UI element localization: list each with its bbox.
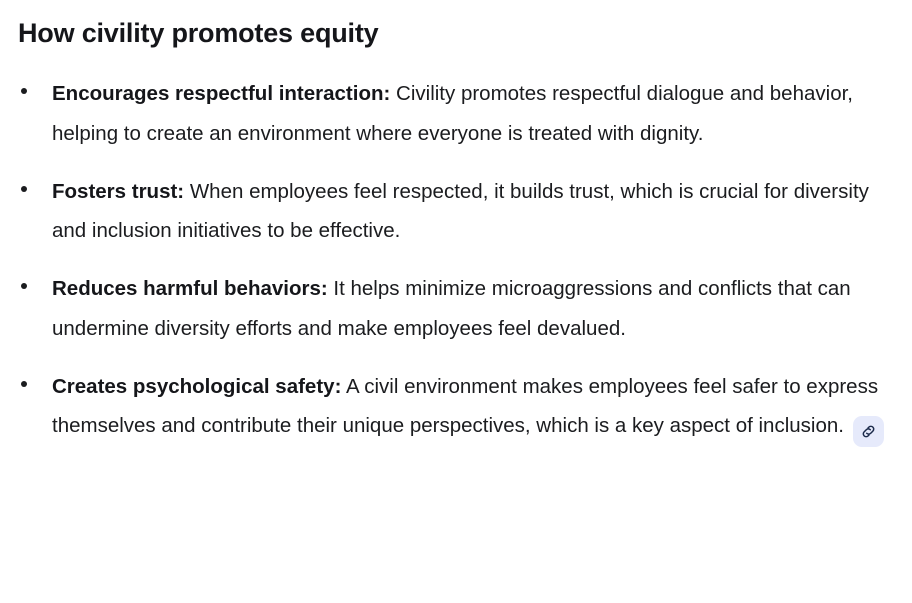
list-item-lead: Creates psychological safety: xyxy=(52,375,341,398)
article-content: How civility promotes equity Encourages … xyxy=(0,0,912,447)
list-item: Creates psychological safety: A civil en… xyxy=(0,367,912,448)
bullet-marker-icon xyxy=(21,269,29,309)
bullet-marker-icon xyxy=(21,172,29,212)
link-badge-button[interactable] xyxy=(853,416,884,447)
list-item-lead: Reduces harmful behaviors: xyxy=(52,277,328,300)
list-item: Encourages respectful interaction: Civil… xyxy=(0,74,912,153)
list-item-lead: Encourages respectful interaction: xyxy=(52,82,390,105)
list-item: Reduces harmful behaviors: It helps mini… xyxy=(0,269,912,348)
bullet-marker-icon xyxy=(21,367,29,407)
list-item: Fosters trust: When employees feel respe… xyxy=(0,172,912,251)
bullet-marker-icon xyxy=(21,74,29,114)
page-title: How civility promotes equity xyxy=(0,0,912,50)
list-item-lead: Fosters trust: xyxy=(52,180,184,203)
benefits-bullet-list: Encourages respectful interaction: Civil… xyxy=(0,74,912,447)
link-icon xyxy=(860,423,877,440)
